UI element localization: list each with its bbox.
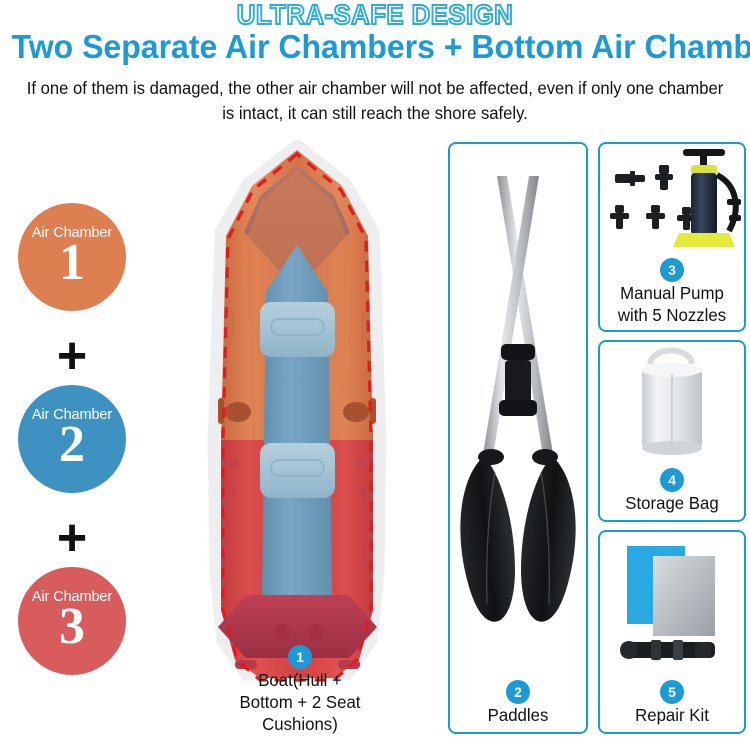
panel-pump: 3 Manual Pump with 5 Nozzles	[598, 142, 746, 332]
bag-caption-text: Storage Bag	[603, 493, 741, 514]
panel-repair: 5 Repair Kit	[598, 530, 746, 734]
repair-caption: 5 Repair Kit	[600, 680, 744, 726]
bag-handle	[650, 351, 692, 365]
bag-svg	[612, 344, 732, 462]
paddles-caption: 2 Paddles	[450, 680, 586, 726]
panel-bag: 4 Storage Bag	[598, 340, 746, 522]
paddles-svg	[453, 154, 583, 654]
chamber-separator-1: +	[18, 330, 126, 382]
repair-svg	[607, 534, 737, 670]
nozzle-4	[646, 205, 665, 229]
chamber-separator-2: +	[18, 512, 126, 564]
boat-floor	[262, 245, 332, 595]
header-description: If one of them is damaged, the other air…	[26, 76, 723, 126]
boat-drain-plug-right	[308, 624, 324, 640]
pump-image	[600, 144, 744, 262]
bag-caption: 4 Storage Bag	[600, 468, 744, 514]
air-chamber-3: Air Chamber 3	[18, 567, 126, 675]
air-chamber-1: Air Chamber 1	[18, 203, 126, 311]
repair-badge: 5	[660, 680, 684, 704]
bag-bottom	[642, 441, 702, 455]
pump-badge: 3	[660, 258, 684, 282]
paddles-badge: 2	[506, 680, 530, 704]
air-chamber-2-number: 2	[59, 419, 85, 471]
pump-caption: 3 Manual Pump with 5 Nozzles	[600, 258, 744, 326]
paddles-caption-text: Paddles	[453, 705, 584, 726]
boat-seat-cushion-2	[260, 302, 335, 357]
panel-paddles: 2 Paddles	[448, 142, 588, 734]
air-chamber-1-number: 1	[59, 237, 85, 289]
bag-badge: 4	[660, 468, 684, 492]
infographic-canvas: ULTRA-SAFE DESIGN Two Separate Air Chamb…	[0, 0, 750, 740]
page-title: Two Separate Air Chambers + Bottom Air C…	[12, 27, 750, 67]
air-chamber-3-number: 3	[59, 601, 85, 653]
repair-patch-grey	[653, 556, 715, 636]
paddles-image	[450, 144, 586, 664]
pump-svg	[601, 145, 743, 261]
boat-caption-line-2: Bottom + 2 Seat	[209, 692, 391, 713]
air-chamber-2: Air Chamber 2	[18, 385, 126, 493]
repair-caption-text: Repair Kit	[603, 705, 741, 726]
boat-illustration	[140, 140, 455, 685]
boat-svg	[140, 140, 455, 685]
boat-seat-cushion-1	[260, 443, 335, 498]
boat-caption-line-1: Boat(Hull +	[209, 670, 391, 691]
boat-caption: 1 Boat(Hull + Bottom + 2 Seat Cushions)	[205, 645, 395, 735]
paddle-collar-left	[532, 449, 558, 465]
pump-caption-line-2: with 5 Nozzles	[603, 305, 741, 326]
pump-nozzles	[610, 165, 695, 230]
repair-image	[600, 532, 744, 672]
nozzle-1	[615, 171, 645, 186]
boat-badge: 1	[288, 645, 312, 669]
nozzle-3	[610, 205, 629, 229]
boat-drain-plug-left	[274, 624, 290, 640]
bag-image	[600, 342, 744, 464]
paddle-collar-right	[478, 449, 504, 465]
pump-body	[673, 149, 741, 247]
boat-caption-line-3: Cushions)	[209, 714, 391, 735]
repair-strap-tool	[620, 640, 715, 660]
pump-caption-line-1: Manual Pump	[603, 283, 741, 304]
nozzle-2	[655, 165, 673, 190]
